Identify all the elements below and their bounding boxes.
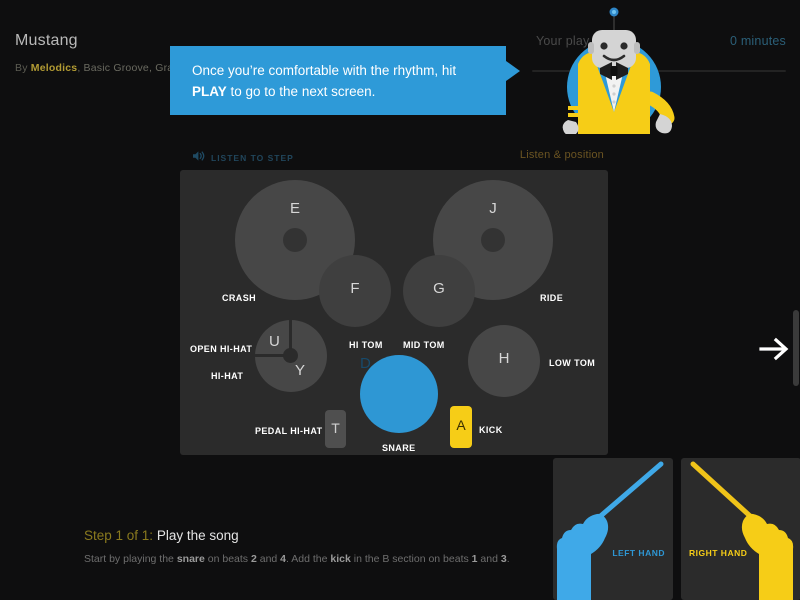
pad-kick[interactable]: A	[450, 406, 472, 448]
pad-hi-tom-key: F	[319, 280, 391, 297]
pad-hi-hat[interactable]: U Y	[255, 320, 327, 392]
desc-part-1: snare	[177, 553, 205, 565]
tooltip-line1: Once you’re comfortable with the rhythm,…	[192, 63, 456, 78]
label-crash: CRASH	[222, 293, 256, 303]
robot-mascot-icon	[548, 2, 680, 134]
pad-ride-key: J	[433, 200, 553, 217]
desc-part-12: .	[507, 553, 510, 565]
label-snare: SNARE	[382, 443, 416, 453]
desc-part-2: on beats	[205, 553, 251, 565]
right-hand-panel: RIGHT HAND	[681, 458, 800, 600]
pad-ride-hole	[481, 228, 505, 252]
desc-part-10: and	[478, 553, 501, 565]
play-today-value: 0 minutes	[730, 34, 786, 48]
right-hand-drumstick-icon	[681, 458, 800, 600]
tooltip-emphasis: PLAY	[192, 84, 227, 99]
pad-low-tom-key: H	[468, 350, 540, 367]
left-hand-label: LEFT HAND	[612, 548, 665, 558]
pad-crash-key: E	[235, 200, 355, 217]
drum-kit-diagram: E J F G H U Y D T A CRASH RIDE HI TOM MI…	[180, 170, 608, 455]
step-title: Step 1 of 1: Play the song	[84, 528, 239, 543]
app-header: Mustang By Melodics, Basic Groove, Grade…	[0, 0, 800, 140]
desc-part-4: and	[257, 553, 280, 565]
label-kick: KICK	[479, 425, 503, 435]
pad-open-hi-hat-key: U	[269, 333, 280, 350]
listen-row: LISTEN TO STEP Listen & position	[180, 146, 608, 168]
pad-hi-tom[interactable]: F	[319, 255, 391, 327]
listen-to-step-button[interactable]: LISTEN TO STEP	[192, 149, 294, 167]
left-hand-panel: LEFT HAND	[553, 458, 673, 600]
desc-part-8: in the B section on beats	[351, 553, 472, 565]
byline-brand[interactable]: Melodics	[31, 62, 78, 74]
pad-pedal-hi-hat[interactable]: T	[325, 410, 346, 448]
desc-part-0: Start by playing the	[84, 553, 177, 565]
song-byline: By Melodics, Basic Groove, Grade 1	[15, 62, 195, 74]
pad-hi-hat-key: Y	[295, 362, 305, 379]
step-description: Start by playing the snare on beats 2 an…	[84, 553, 510, 565]
label-low-tom: LOW TOM	[549, 358, 595, 368]
step-name: Play the song	[153, 528, 239, 543]
right-hand-label: RIGHT HAND	[689, 548, 747, 558]
pad-pedal-hi-hat-key: T	[325, 420, 346, 436]
listen-to-step-label: LISTEN TO STEP	[211, 153, 294, 163]
label-mid-tom: MID TOM	[403, 340, 445, 350]
coach-tooltip: Once you’re comfortable with the rhythm,…	[170, 46, 506, 115]
pad-kick-key: A	[450, 417, 472, 433]
coach-tooltip-tail	[506, 61, 520, 81]
label-hi-hat: HI-HAT	[211, 371, 243, 381]
left-hand-drumstick-icon	[553, 458, 673, 600]
vertical-scrollbar[interactable]	[793, 0, 800, 455]
page-title: Mustang	[15, 32, 78, 50]
tooltip-line2: to go to the next screen.	[227, 84, 376, 99]
pad-mid-tom-key: G	[403, 280, 475, 297]
vertical-scrollbar-thumb[interactable]	[793, 310, 799, 386]
byline-prefix: By	[15, 62, 28, 74]
arrow-right-icon[interactable]	[757, 334, 791, 364]
label-hi-tom: HI TOM	[349, 340, 383, 350]
pad-low-tom[interactable]: H	[468, 325, 540, 397]
pad-mid-tom[interactable]: G	[403, 255, 475, 327]
speaker-icon	[192, 149, 205, 167]
coach-tooltip-text: Once you’re comfortable with the rhythm,…	[192, 60, 492, 102]
pad-snare-key: D	[360, 355, 371, 372]
desc-part-7: kick	[330, 553, 350, 565]
label-ride: RIDE	[540, 293, 563, 303]
label-pedal-hi-hat: PEDAL HI-HAT	[255, 426, 322, 436]
pad-crash-hole	[283, 228, 307, 252]
label-open-hi-hat: OPEN HI-HAT	[190, 344, 252, 354]
desc-part-6: . Add the	[286, 553, 330, 565]
hi-hat-center-hole	[283, 348, 298, 363]
step-index: Step 1 of 1:	[84, 528, 153, 543]
practice-mode-label: Listen & position	[520, 149, 604, 161]
pad-snare[interactable]: D	[360, 355, 438, 433]
